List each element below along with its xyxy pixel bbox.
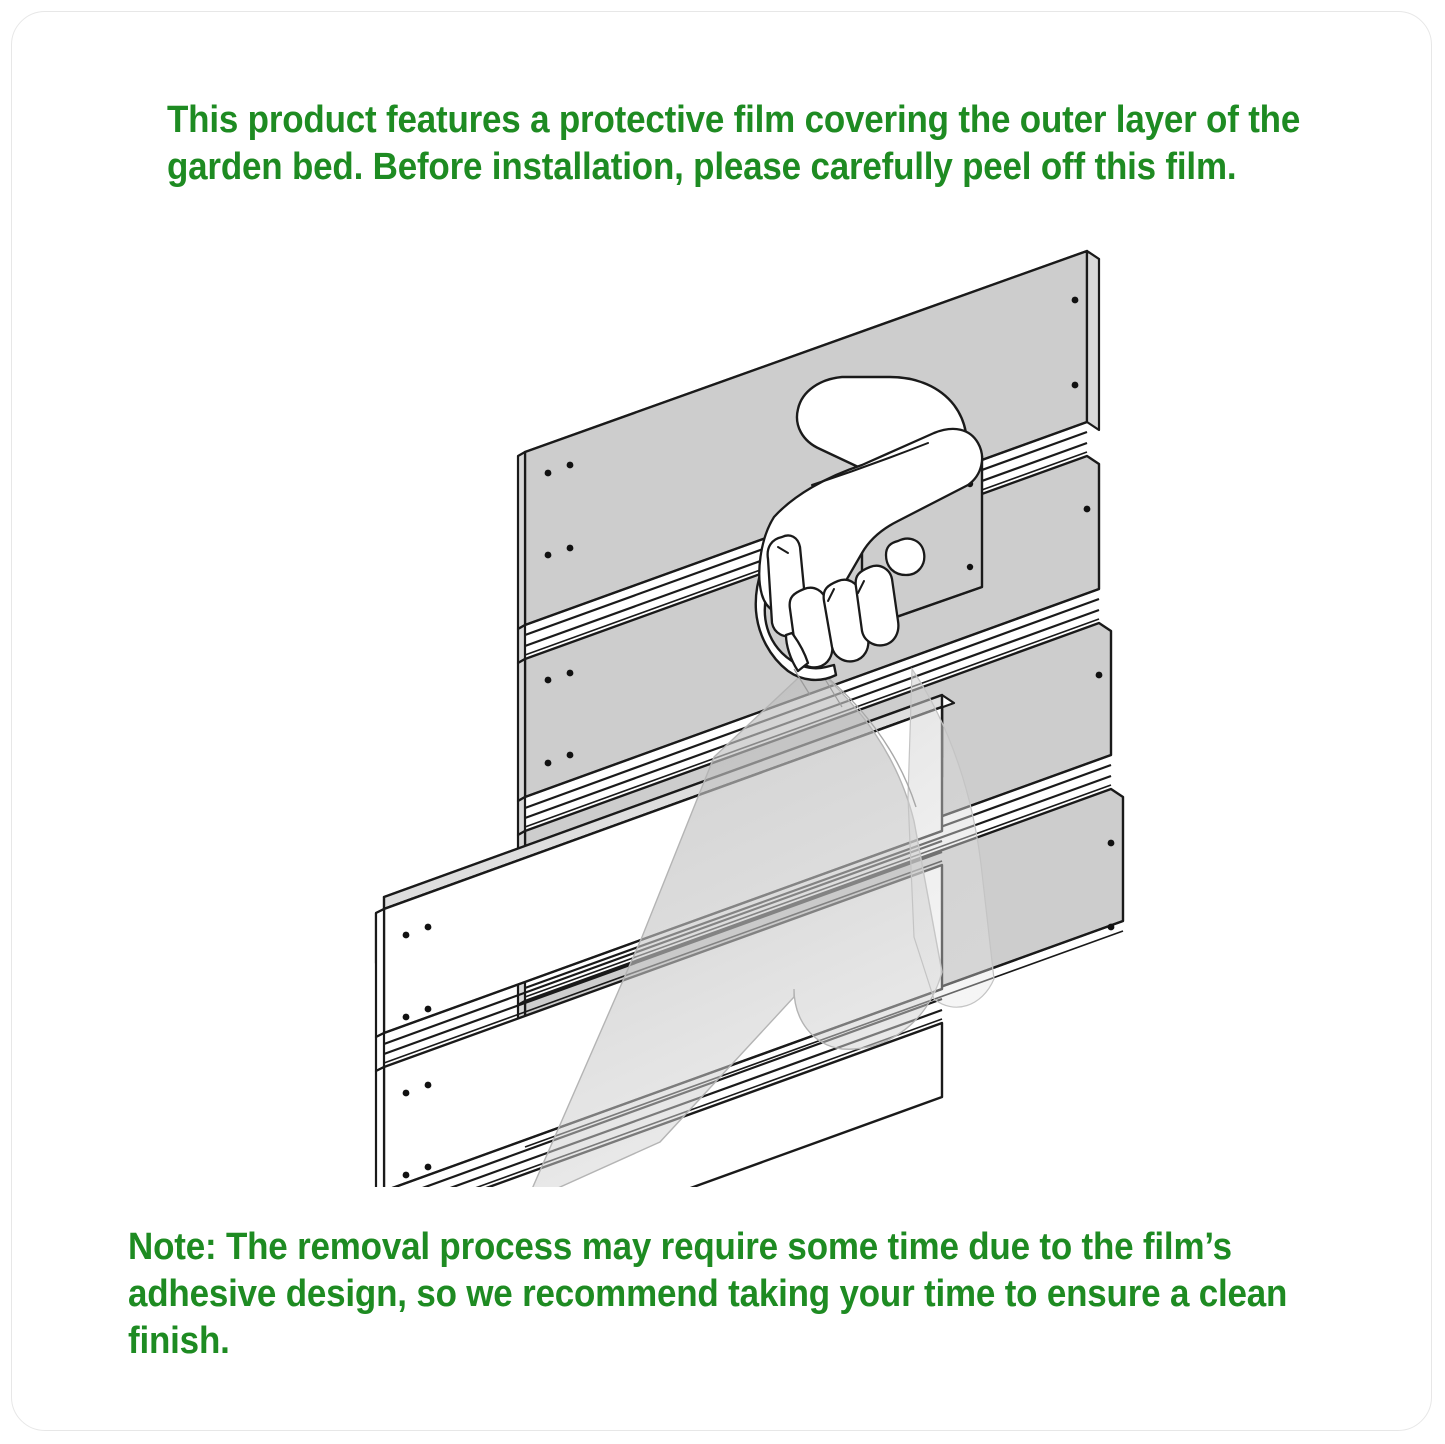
bottom-note-text: Note: The removal process may require so… [128,1224,1342,1365]
top-instruction-text: This product features a protective film … [167,97,1326,191]
garden-bed-film-peel-illustration: .pl { fill:#cdcdcd; stroke:#1a1a1a; stro… [342,237,1142,1187]
instruction-card: This product features a protective film … [11,11,1432,1431]
screenshot-root: This product features a protective film … [0,0,1445,1444]
